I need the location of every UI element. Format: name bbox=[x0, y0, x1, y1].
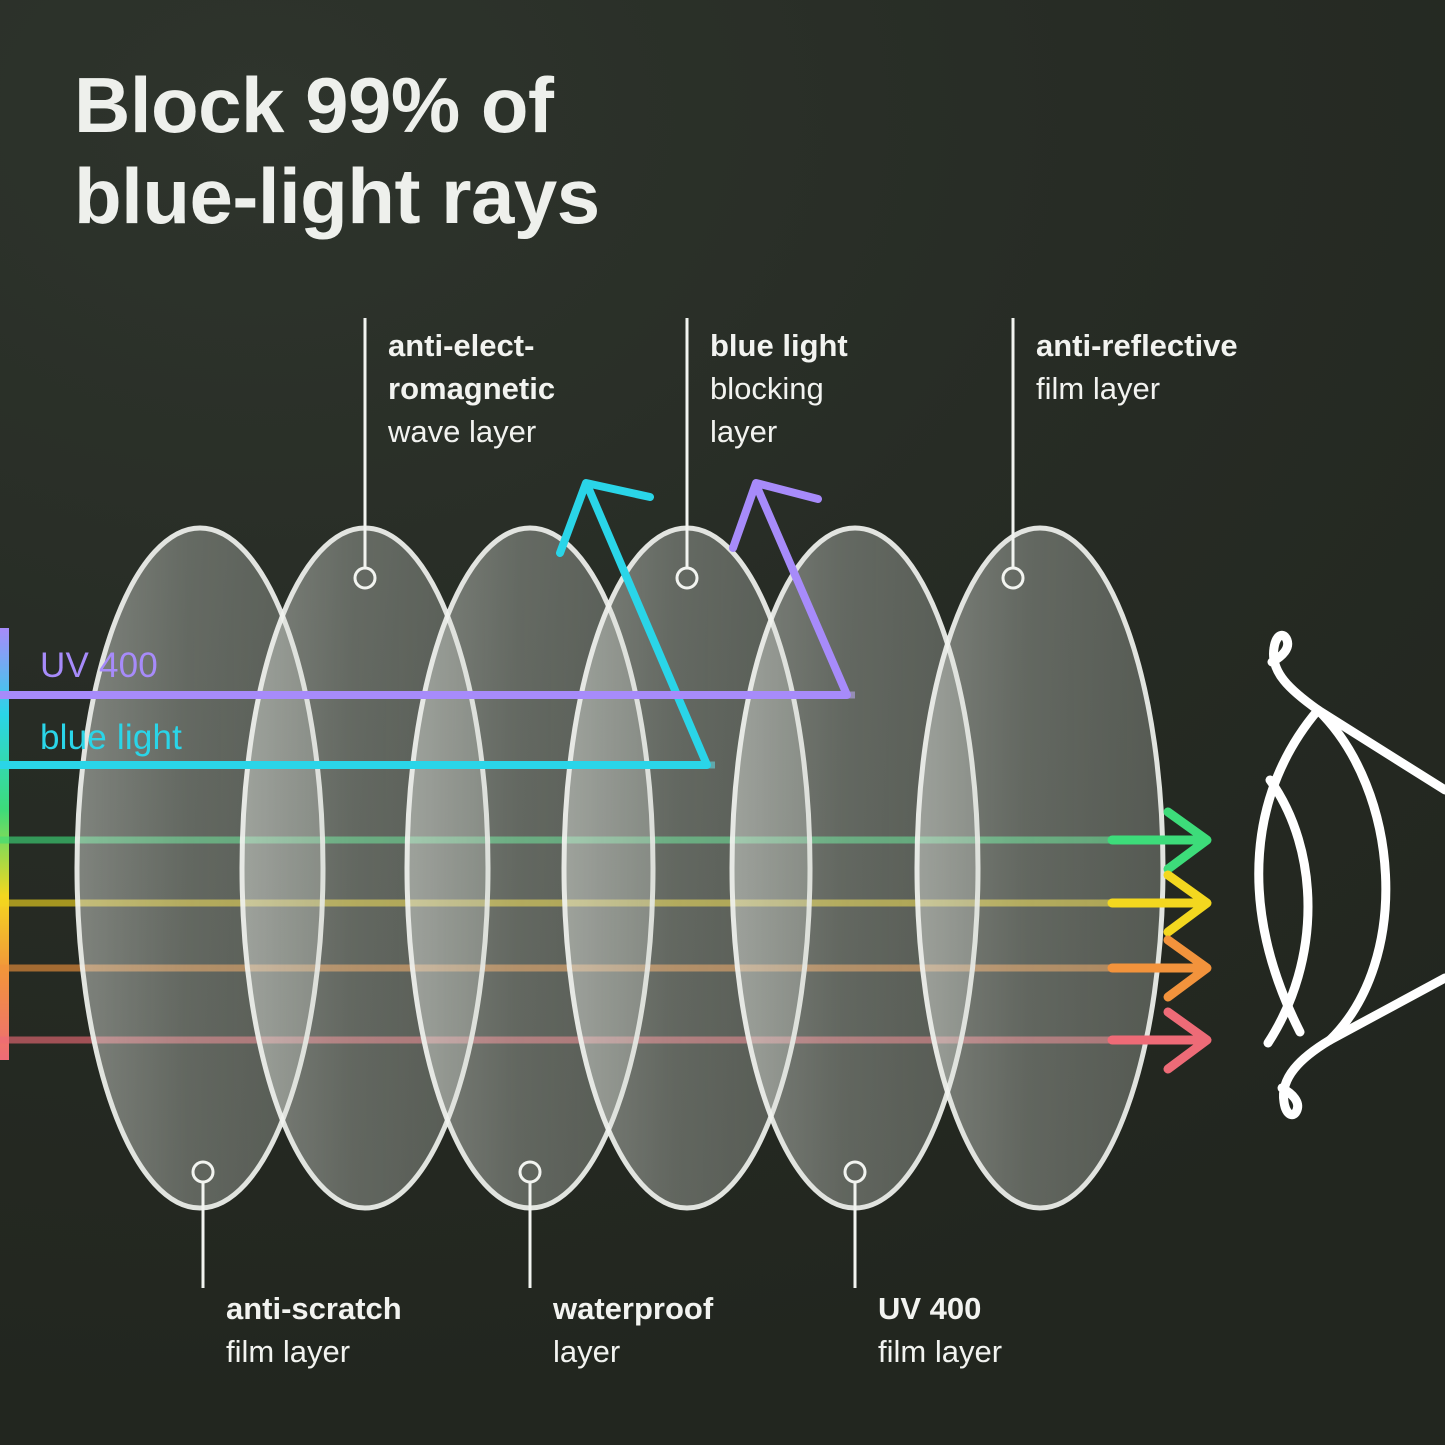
callout-subtitle: film layer bbox=[226, 1331, 516, 1374]
callout-anti-scratch: anti-scratch film layer bbox=[226, 1288, 516, 1374]
eye-iris-arc bbox=[1268, 780, 1308, 1043]
callout-subtitle: layer bbox=[553, 1331, 843, 1374]
eye-illustration bbox=[1259, 635, 1445, 1114]
callout-uv-400-film: UV 400 film layer bbox=[878, 1288, 1168, 1374]
eye-lower-ray bbox=[1330, 978, 1445, 1040]
callout-subtitle: film layer bbox=[1036, 368, 1366, 411]
callout-anti-electromagnetic: anti-elect- romagnetic wave layer bbox=[388, 325, 678, 453]
ray-label-blue-light: blue light bbox=[40, 718, 182, 758]
infographic-canvas: Block 99% of blue-light rays bbox=[0, 0, 1445, 1445]
callout-title: waterproof bbox=[553, 1288, 843, 1331]
callout-title: anti-scratch bbox=[226, 1288, 516, 1331]
lens-layer-stack bbox=[77, 528, 1163, 1208]
ray-label-uv-400: UV 400 bbox=[40, 646, 158, 686]
diagram-artwork bbox=[0, 0, 1445, 1445]
eye-lower-lash bbox=[1282, 1040, 1330, 1115]
callout-subtitle: film layer bbox=[878, 1331, 1168, 1374]
lens-layer-anti-reflective bbox=[917, 528, 1163, 1208]
callout-leaders-bottom bbox=[193, 1162, 865, 1288]
callout-title: UV 400 bbox=[878, 1288, 1168, 1331]
eye-upper-ray bbox=[1318, 710, 1445, 790]
callout-title: blue light bbox=[710, 325, 990, 368]
callout-subtitle: wave layer bbox=[388, 411, 678, 454]
callout-title: anti-reflective bbox=[1036, 325, 1366, 368]
callout-title: anti-elect- romagnetic bbox=[388, 325, 678, 411]
callout-anti-reflective: anti-reflective film layer bbox=[1036, 325, 1366, 411]
eye-upper-lash bbox=[1272, 635, 1318, 710]
callout-waterproof: waterproof layer bbox=[553, 1288, 843, 1374]
callout-blue-light-blocking: blue light blocking layer bbox=[710, 325, 990, 453]
callout-subtitle: blocking layer bbox=[710, 368, 990, 454]
eye-outer-curve bbox=[1318, 710, 1386, 1040]
